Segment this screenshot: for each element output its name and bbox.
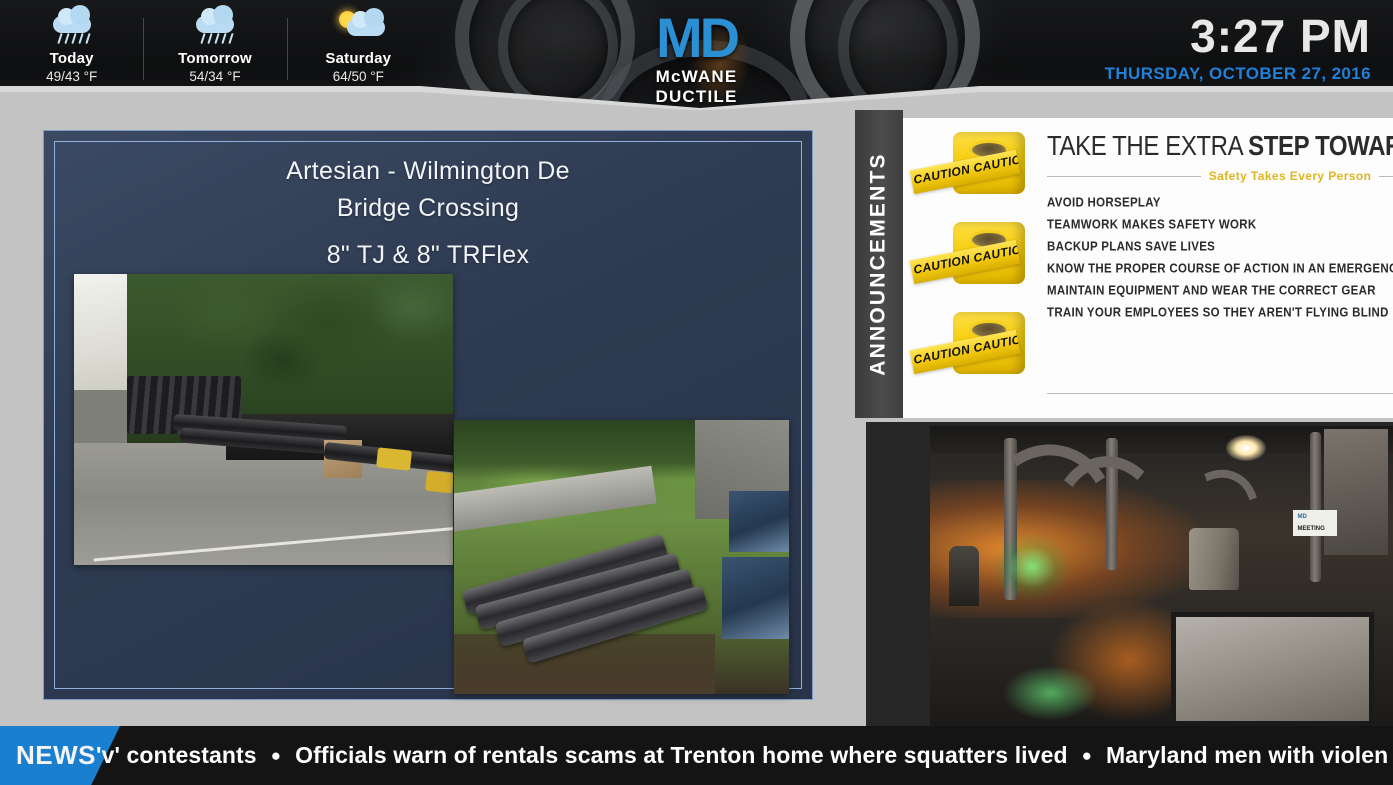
wall-sign-bottom-text: MEETING [1297, 526, 1324, 532]
news-separator: ● [1082, 746, 1092, 766]
news-separator: ● [271, 746, 281, 766]
clock-time: 3:27 PM [1105, 12, 1371, 60]
caution-tape-column: CAUTION CAUTION CAUTION CAUTION CAUTION … [903, 118, 1043, 418]
announcements-tab: ANNOUNCEMENTS [855, 110, 903, 418]
news-item: 'v' contestants [96, 742, 257, 769]
list-item: MAINTAIN EQUIPMENT AND WEAR THE CORRECT … [1047, 283, 1393, 299]
slide-title-block: Artesian - Wilmington De Bridge Crossing… [44, 131, 812, 274]
divider-right [1379, 176, 1393, 177]
slide-title-line-3: 8" TJ & 8" TRFlex [84, 237, 772, 274]
news-item: Officials warn of rentals scams at Trent… [295, 742, 1068, 769]
main-slide-panel[interactable]: Artesian - Wilmington De Bridge Crossing… [43, 130, 813, 700]
news-ticker-text: 'v' contestants ● Officials warn of rent… [96, 726, 1388, 785]
factory-photo: MD MEETING [930, 426, 1393, 726]
slide-photo-grass-pipes [454, 420, 789, 694]
safety-subtitle-row: Safety Takes Every Person [1047, 169, 1393, 183]
safety-poster: CAUTION CAUTION CAUTION CAUTION CAUTION … [903, 118, 1393, 418]
news-item: Maryland men with violen [1106, 742, 1388, 769]
caution-tape-roll-icon: CAUTION CAUTION CAUTION [911, 130, 1029, 206]
list-item: AVOID HORSEPLAY [1047, 195, 1393, 211]
wall-sign-top-text: MD [1297, 514, 1306, 520]
divider-left [1047, 176, 1201, 177]
news-badge-label: NEWS [16, 740, 96, 771]
list-item: BACKUP PLANS SAVE LIVES [1047, 239, 1393, 255]
safety-headline-bold: STEP TOWARDS SAFETY [1248, 131, 1393, 162]
header-chevron-divider [0, 81, 1393, 110]
slide-title-line-1: Artesian - Wilmington De [84, 153, 772, 190]
ceiling-lamp-icon [1226, 435, 1266, 461]
slide-title-line-2: Bridge Crossing [84, 190, 772, 227]
caution-tape-roll-icon: CAUTION CAUTION CAUTION [911, 220, 1029, 296]
safety-subtitle: Safety Takes Every Person [1209, 169, 1372, 183]
header-bar: Today 49/43 °F Tomorrow 54/34 °F Saturda… [0, 0, 1393, 110]
factory-photo-panel[interactable]: MD MEETING [866, 422, 1393, 726]
news-ticker[interactable]: NEWS 'v' contestants ● Officials warn of… [0, 726, 1393, 785]
safety-bullet-list: AVOID HORSEPLAY TEAMWORK MAKES SAFETY WO… [1047, 196, 1393, 320]
list-item: TRAIN YOUR EMPLOYEES SO THEY AREN'T FLYI… [1047, 305, 1393, 321]
announcements-tab-label: ANNOUNCEMENTS [867, 152, 891, 375]
clock-widget: 3:27 PM THURSDAY, OCTOBER 27, 2016 [1105, 12, 1371, 84]
footer-divider [1047, 393, 1393, 394]
slide-photo-roadside-pipes [74, 274, 453, 565]
wall-sign: MD MEETING [1293, 510, 1337, 536]
list-item: KNOW THE PROPER COURSE OF ACTION IN AN E… [1047, 261, 1393, 277]
list-item: TEAMWORK MAKES SAFETY WORK [1047, 217, 1393, 233]
safety-headline-light: TAKE THE EXTRA [1047, 131, 1248, 162]
poster-footer: S CONNECTEDSIGN® [1047, 358, 1393, 408]
caution-tape-roll-icon: CAUTION CAUTION CAUTION [911, 310, 1029, 386]
announcements-panel[interactable]: ANNOUNCEMENTS CAUTION CAUTION CAUTION CA… [855, 110, 1393, 418]
safety-headline: TAKE THE EXTRA STEP TOWARDS SAFETY [1047, 132, 1393, 162]
